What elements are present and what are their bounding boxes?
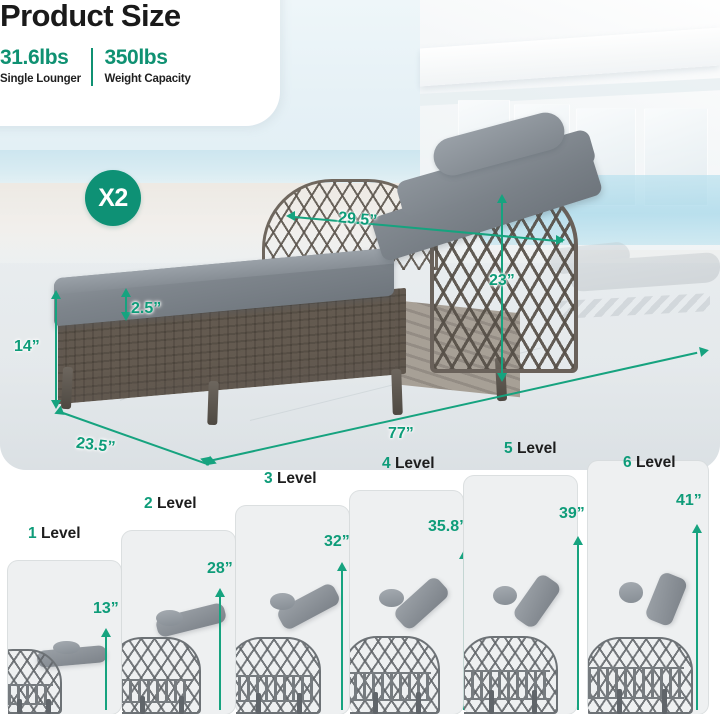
level-height-3: 32” [324,533,350,551]
level-suffix: Level [395,455,435,472]
head-pillow [156,610,183,626]
page-title: Product Size [0,0,270,31]
dimension-line [55,298,57,401]
level-suffix: Level [41,525,81,542]
dimension-label: 29.5” [337,209,378,230]
chair-leg [179,696,184,714]
chair-leg [17,699,22,714]
head-pillow [270,593,295,610]
level-suffix: Level [277,470,317,487]
quantity-badge: X2 [85,170,141,226]
level-title-6: 6 Level [623,454,676,472]
level-title-5: 5 Level [504,440,557,458]
arrow-head-right-icon [556,235,565,245]
level-height-4: 35.8” [428,518,467,536]
villa-roof [420,28,720,87]
chair-leg [256,693,261,714]
chair-leg [532,690,537,714]
level-title-4: 4 Level [382,455,435,473]
dimension-label: 2.5” [131,300,161,318]
stat-weight-capacity: 350lbs Weight Capacity [93,47,201,85]
chair-leg [617,689,622,714]
chair-leg [297,693,302,714]
chair-leg [489,690,494,714]
stat-value: 31.6lbs [0,47,81,68]
lounger-leg [207,381,219,425]
level-number: 3 [264,470,273,487]
stat-label: Weight Capacity [105,73,191,85]
head-pillow [619,582,643,602]
level-dimension-line [341,570,343,710]
lounger-leg [391,369,403,415]
level-height-5: 39” [559,505,585,523]
header-card: Product Size 31.6lbs Single Lounger 350l… [0,0,280,126]
stat-label: Single Lounger [0,73,81,85]
quantity-badge-label: X2 [98,184,128,213]
arrow-head-right-icon [699,345,710,357]
product-size-infographic: 29.5” 23” 2.5” 14” 23.5” [0,0,720,714]
main-lounger-illustration [40,95,680,425]
stat-value: 350lbs [105,47,191,68]
chair-leg [662,689,667,714]
level-suffix: Level [636,454,676,471]
stats-row: 31.6lbs Single Lounger 350lbs Weight Cap… [0,47,270,86]
stat-single-lounger: 31.6lbs Single Lounger [0,47,91,85]
chair-leg [140,696,145,714]
head-pillow [379,589,404,607]
recline-levels-row: 1 Level 13” 2 Level 28” [0,440,720,714]
level-dimension-line [105,636,107,710]
chair-leg [416,692,421,714]
chair-skirt [588,667,684,699]
level-number: 6 [623,454,632,471]
level-dimension-line [219,596,221,710]
level-number: 4 [382,455,391,472]
level-number: 2 [144,495,153,512]
dimension-line [125,294,127,314]
backrest [644,570,689,627]
dimension-label: 23” [489,272,515,290]
level-height-2: 28” [207,560,233,578]
level-dimension-line [696,532,698,710]
level-title-2: 2 Level [144,495,197,513]
level-height-6: 41” [676,492,702,510]
level-suffix: Level [517,440,557,457]
level-title-1: 1 Level [28,525,81,543]
level-height-1: 13” [93,600,119,618]
backrest [512,572,563,630]
level-number: 1 [28,525,37,542]
level-title-3: 3 Level [264,470,317,488]
ratchet-mechanism [560,293,710,319]
chair-skirt [464,670,550,700]
head-pillow [493,586,517,605]
chair-leg [373,692,378,714]
dimension-label: 14” [14,338,40,356]
arrow-head-down-icon [497,373,507,382]
level-dimension-line [577,544,579,710]
level-suffix: Level [157,495,197,512]
arrow-head-down-icon [121,312,131,321]
level-number: 5 [504,440,513,457]
chair-leg [46,699,51,714]
